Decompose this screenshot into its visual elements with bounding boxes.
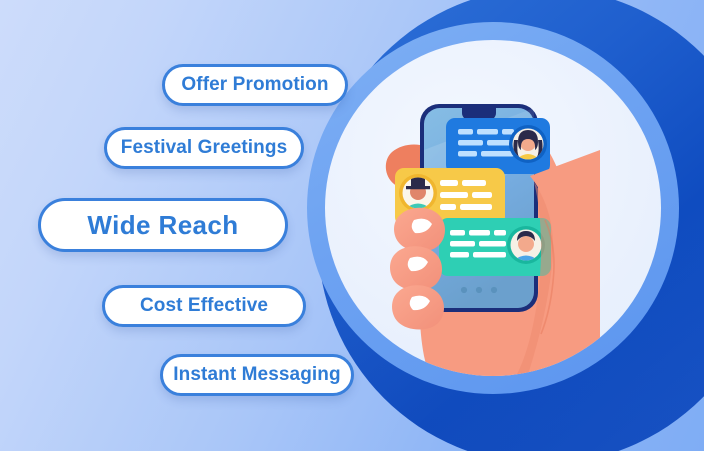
pill-wide-reach[interactable]: Wide Reach [38, 198, 288, 252]
inner-pale-circle [325, 40, 661, 376]
pill-offer-promotion[interactable]: Offer Promotion [162, 64, 348, 106]
pill-cost-effective[interactable]: Cost Effective [102, 285, 306, 327]
pill-label: Instant Messaging [173, 364, 340, 386]
infographic-canvas: Offer Promotion Festival Greetings Wide … [0, 0, 704, 451]
pill-label: Festival Greetings [121, 137, 288, 159]
pill-festival-greetings[interactable]: Festival Greetings [104, 127, 304, 169]
pill-instant-messaging[interactable]: Instant Messaging [160, 354, 354, 396]
pill-label: Wide Reach [87, 210, 238, 241]
pill-label: Offer Promotion [181, 74, 328, 96]
pill-label: Cost Effective [140, 295, 268, 317]
